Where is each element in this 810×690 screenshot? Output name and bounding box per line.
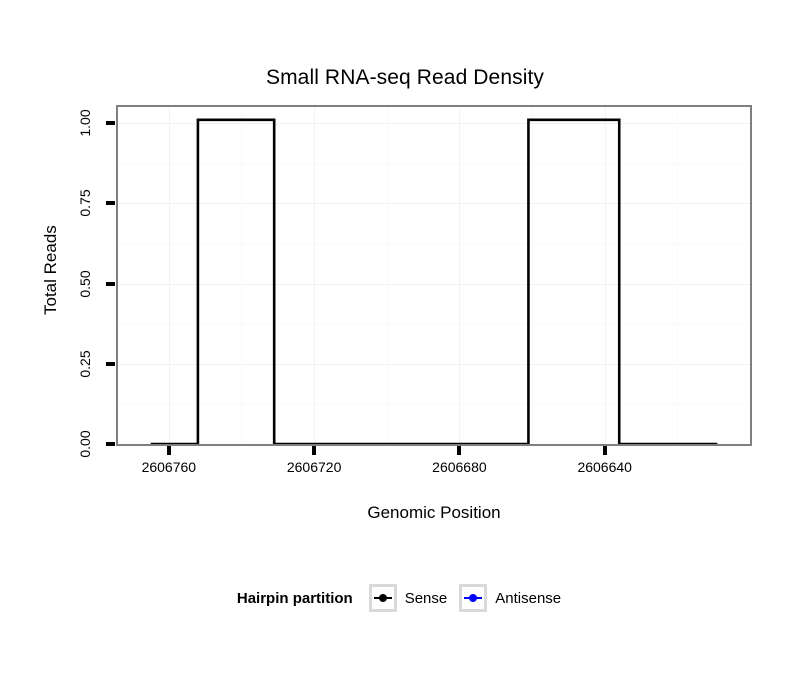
y-axis-tick <box>106 201 115 205</box>
legend-key-icon <box>369 584 397 612</box>
x-axis-tick <box>167 446 171 455</box>
legend-key-icon <box>459 584 487 612</box>
x-axis-tick-label: 2606720 <box>264 459 364 475</box>
legend-items: SenseAntisense <box>369 584 573 612</box>
chart-title: Small RNA-seq Read Density <box>0 66 810 90</box>
y-axis-tick <box>106 442 115 446</box>
legend-item-label: Antisense <box>495 590 561 607</box>
legend-item-label: Sense <box>405 590 448 607</box>
y-axis-tick-label: 1.00 <box>74 106 96 140</box>
x-axis-tick-label: 2606680 <box>409 459 509 475</box>
legend-item[interactable]: Sense <box>369 584 448 612</box>
y-axis-tick-label: 0.75 <box>74 186 96 220</box>
x-axis-tick <box>312 446 316 455</box>
y-axis-title: Total Reads <box>41 229 61 315</box>
y-axis-tick <box>106 282 115 286</box>
series-layer <box>118 107 750 444</box>
legend-title: Hairpin partition <box>237 590 353 607</box>
plot-panel <box>116 105 752 446</box>
legend: Hairpin partition SenseAntisense <box>0 583 810 613</box>
grid-line-horizontal <box>118 444 750 445</box>
chart-figure: Small RNA-seq Read Density Total Reads 0… <box>0 0 810 690</box>
x-axis-tick-label: 2606640 <box>555 459 655 475</box>
y-axis-tick <box>106 121 115 125</box>
y-axis-tick-label: 0.25 <box>74 347 96 381</box>
y-axis-tick-label: 0.50 <box>74 267 96 301</box>
y-axis-tick <box>106 362 115 366</box>
sense-line <box>151 120 718 444</box>
x-axis-title: Genomic Position <box>116 503 752 523</box>
y-axis-tick-label: 0.00 <box>74 427 96 461</box>
x-axis-tick-label: 2606760 <box>119 459 219 475</box>
legend-item[interactable]: Antisense <box>459 584 561 612</box>
x-axis-tick <box>457 446 461 455</box>
x-axis-tick <box>603 446 607 455</box>
